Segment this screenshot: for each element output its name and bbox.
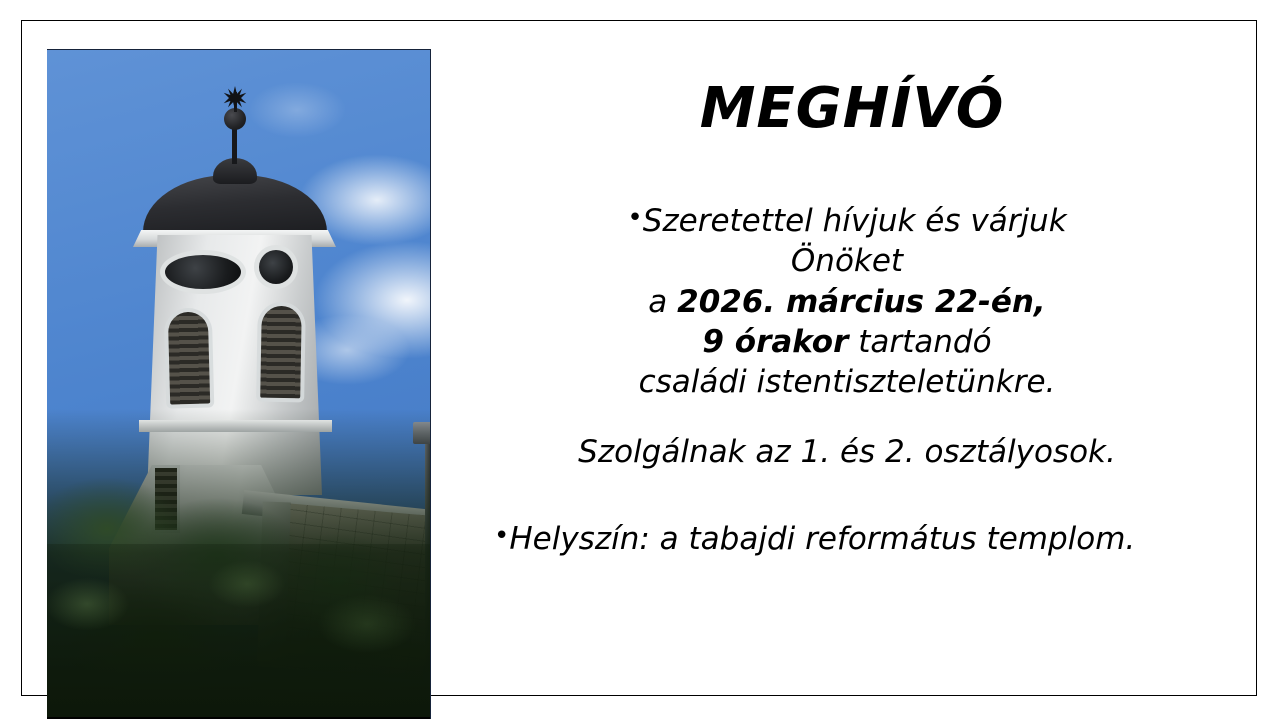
spire-rod bbox=[232, 124, 237, 164]
body-line-3-prefix: a bbox=[648, 284, 677, 320]
venue-text: Helyszín: a tabajdi református templom. bbox=[509, 521, 1135, 557]
body-line-2: Önöket bbox=[452, 241, 1242, 281]
event-date: 2026. március 22-én, bbox=[677, 284, 1046, 320]
body-line-1-text: Szeretettel hívjuk és várjuk bbox=[643, 203, 1067, 239]
belfry-window-left bbox=[168, 311, 210, 404]
slide-canvas: MEGHÍVÓ •Szeretettel hívjuk és várjuk Ön… bbox=[21, 20, 1257, 696]
clock-face-left bbox=[165, 255, 241, 289]
body-line-3: a 2026. március 22-én, bbox=[452, 282, 1242, 322]
body-line-4-suffix: tartandó bbox=[848, 324, 991, 360]
body-line-7: •Helyszín: a tabajdi református templom. bbox=[452, 519, 1242, 559]
body-line-4: 9 órakor tartandó bbox=[452, 322, 1242, 362]
spacer-2 bbox=[452, 473, 1242, 503]
photo-bottom-edge bbox=[47, 717, 430, 719]
invitation-body: •Szeretettel hívjuk és várjuk Önöket a 2… bbox=[452, 201, 1242, 559]
page-title: MEGHÍVÓ bbox=[452, 81, 1252, 137]
belfry-window-right bbox=[260, 306, 302, 399]
church-photo bbox=[47, 49, 431, 719]
body-line-6: Szolgálnak az 1. és 2. osztályosok. bbox=[452, 432, 1242, 472]
body-line-1: •Szeretettel hívjuk és várjuk bbox=[452, 201, 1242, 241]
clock-face-right bbox=[259, 250, 293, 284]
spacer-1 bbox=[452, 402, 1242, 432]
spacer-3 bbox=[452, 503, 1242, 519]
event-time: 9 órakor bbox=[702, 324, 848, 360]
text-column: MEGHÍVÓ •Szeretettel hívjuk és várjuk Ön… bbox=[452, 21, 1252, 697]
body-line-5: családi istentiszteletünkre. bbox=[452, 362, 1242, 402]
foliage-front bbox=[47, 544, 430, 719]
